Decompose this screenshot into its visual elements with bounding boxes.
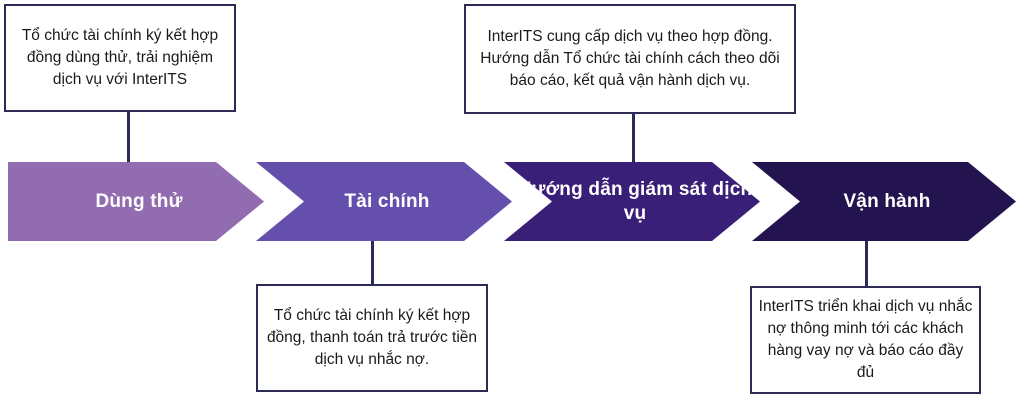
stage-label-huong-dan-giam-sat-dich-vu: Hướng dẫn giám sát dịch vụ [504,178,760,226]
process-flow-diagram: Tổ chức tài chính ký kết hợp đồng dùng t… [0,0,1024,407]
stage-band: Dùng thử Tài chính Hướng dẫn giám sát dị… [0,162,1024,241]
connector-callout-bottom-van-hanh [865,240,868,288]
callout-top-dung-thu-text: Tổ chức tài chính ký kết hợp đồng dùng t… [12,25,228,91]
connector-callout-top-huong-dan-giam-sat [632,114,635,164]
callout-bottom-van-hanh: InterITS triển khai dịch vụ nhắc nợ thôn… [750,286,981,394]
callout-bottom-tai-chinh-text: Tổ chức tài chính ký kết hợp đồng, thanh… [264,305,480,371]
callout-top-huong-dan-giam-sat: InterITS cung cấp dịch vụ theo hợp đồng.… [464,4,796,114]
stage-label-dung-thu: Dùng thử [8,190,264,214]
callout-top-huong-dan-giam-sat-text: InterITS cung cấp dịch vụ theo hợp đồng.… [472,26,788,92]
stage-label-van-hanh: Vận hành [752,190,1016,214]
stage-chevron-tai-chinh[interactable]: Tài chính [256,162,512,241]
stage-chevron-dung-thu[interactable]: Dùng thử [8,162,264,241]
stage-chevron-van-hanh[interactable]: Vận hành [752,162,1016,241]
connector-callout-top-dung-thu [127,112,130,164]
stage-label-tai-chinh: Tài chính [256,190,512,214]
callout-top-dung-thu: Tổ chức tài chính ký kết hợp đồng dùng t… [4,4,236,112]
stage-chevron-huong-dan-giam-sat-dich-vu[interactable]: Hướng dẫn giám sát dịch vụ [504,162,760,241]
callout-bottom-tai-chinh: Tổ chức tài chính ký kết hợp đồng, thanh… [256,284,488,392]
connector-callout-bottom-tai-chinh [371,240,374,286]
callout-bottom-van-hanh-text: InterITS triển khai dịch vụ nhắc nợ thôn… [758,296,973,384]
